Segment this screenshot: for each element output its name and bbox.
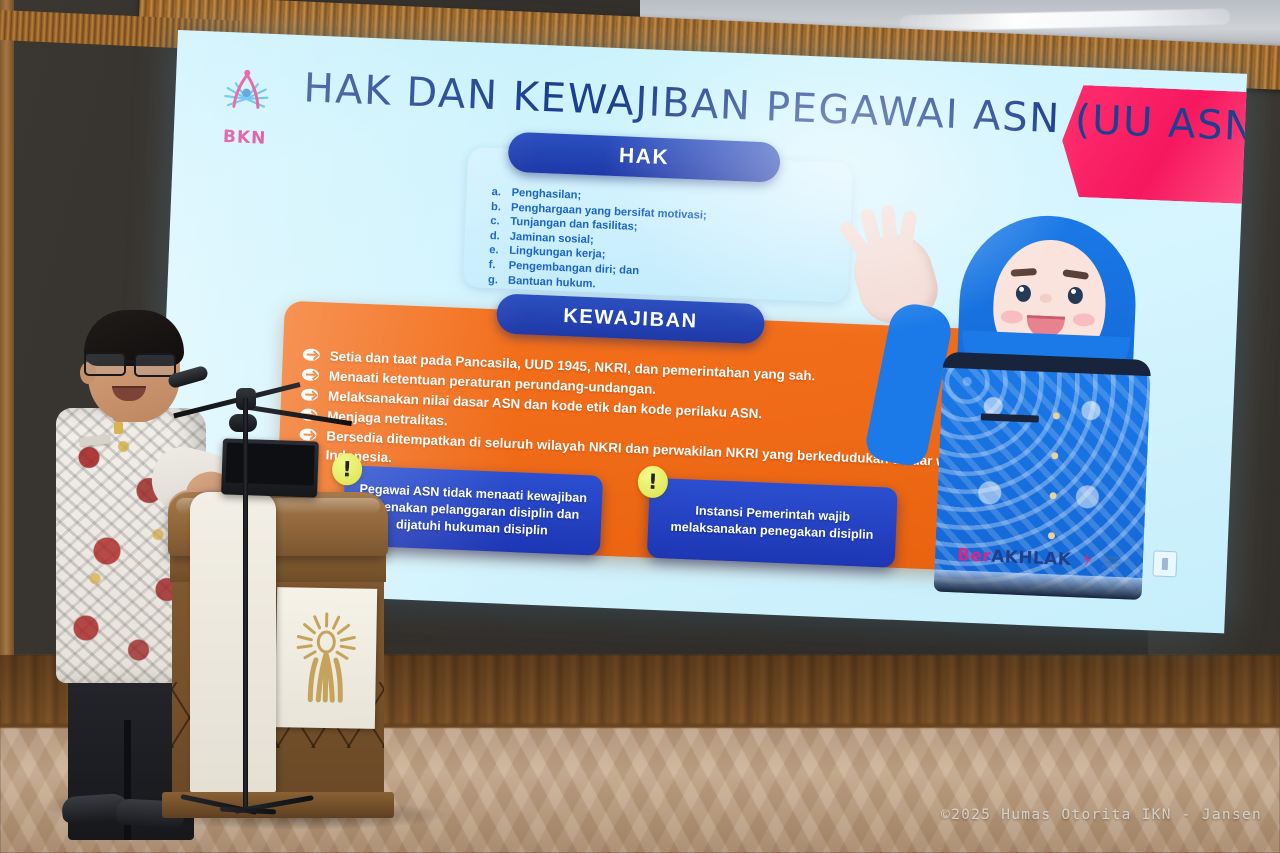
hak-item-letter: e. [489,243,501,258]
berakhlak-prefix: Ber [957,545,992,566]
callout-text-1: Pegawai ASN tidak menaati kewajiban dike… [355,480,591,541]
berakhlak-tagline: Bangga Melayani Bangsa [1103,554,1122,570]
microphone-tripod-base [180,788,312,822]
bkn-logo-label: BKN [205,126,284,149]
microphone-stand-pole [243,398,248,810]
hak-item-letter: c. [490,214,502,229]
screenshot-root: BKN HAK DAN KEWAJIBAN PEGAWAI ASN (UU AS… [0,0,1280,853]
arrow-bullet-icon [303,348,320,361]
podium-front-panel [190,492,276,792]
berakhlak-figure-icon [1079,550,1096,571]
arrow-bullet-icon [301,388,318,401]
hak-item-letter: f. [488,258,500,273]
hak-list: a.Penghasilan;b.Penghargaan yang bersifa… [488,185,852,302]
podium [168,492,388,822]
bkn-logo-mark [214,64,278,126]
hak-item-letter: a. [491,185,503,200]
presenter-glasses [84,352,184,374]
hak-item-letter: b. [491,200,503,215]
slide-title: HAK DAN KEWAJIBAN PEGAWAI ASN (UU ASN) [303,65,1134,145]
bkn-logo: BKN [205,63,286,152]
berakhlak-suffix: AKHLAK [991,547,1072,570]
arrow-bullet-icon [302,368,319,381]
photo-watermark: ©2025 Humas Otorita IKN - Jansen [941,807,1262,823]
hak-heading-label: HAK [619,144,670,170]
ikn-sun-logo [291,609,361,706]
podium-monitor [221,438,319,497]
wall-left-trim [0,0,14,700]
kewajiban-heading-label: KEWAJIBAN [563,305,698,333]
footer-badge-icon [1152,550,1177,577]
hak-item-letter: g. [488,272,500,287]
arrow-bullet-icon [299,428,316,441]
podium-emblem-plaque [275,587,377,729]
presenter-lapel-pin [114,422,123,434]
berakhlak-wordmark: BerAKHLAK [957,545,1072,570]
hak-item-letter: d. [490,229,502,244]
callout-text-2: Instansi Pemerintah wajib melaksanakan p… [660,501,885,544]
